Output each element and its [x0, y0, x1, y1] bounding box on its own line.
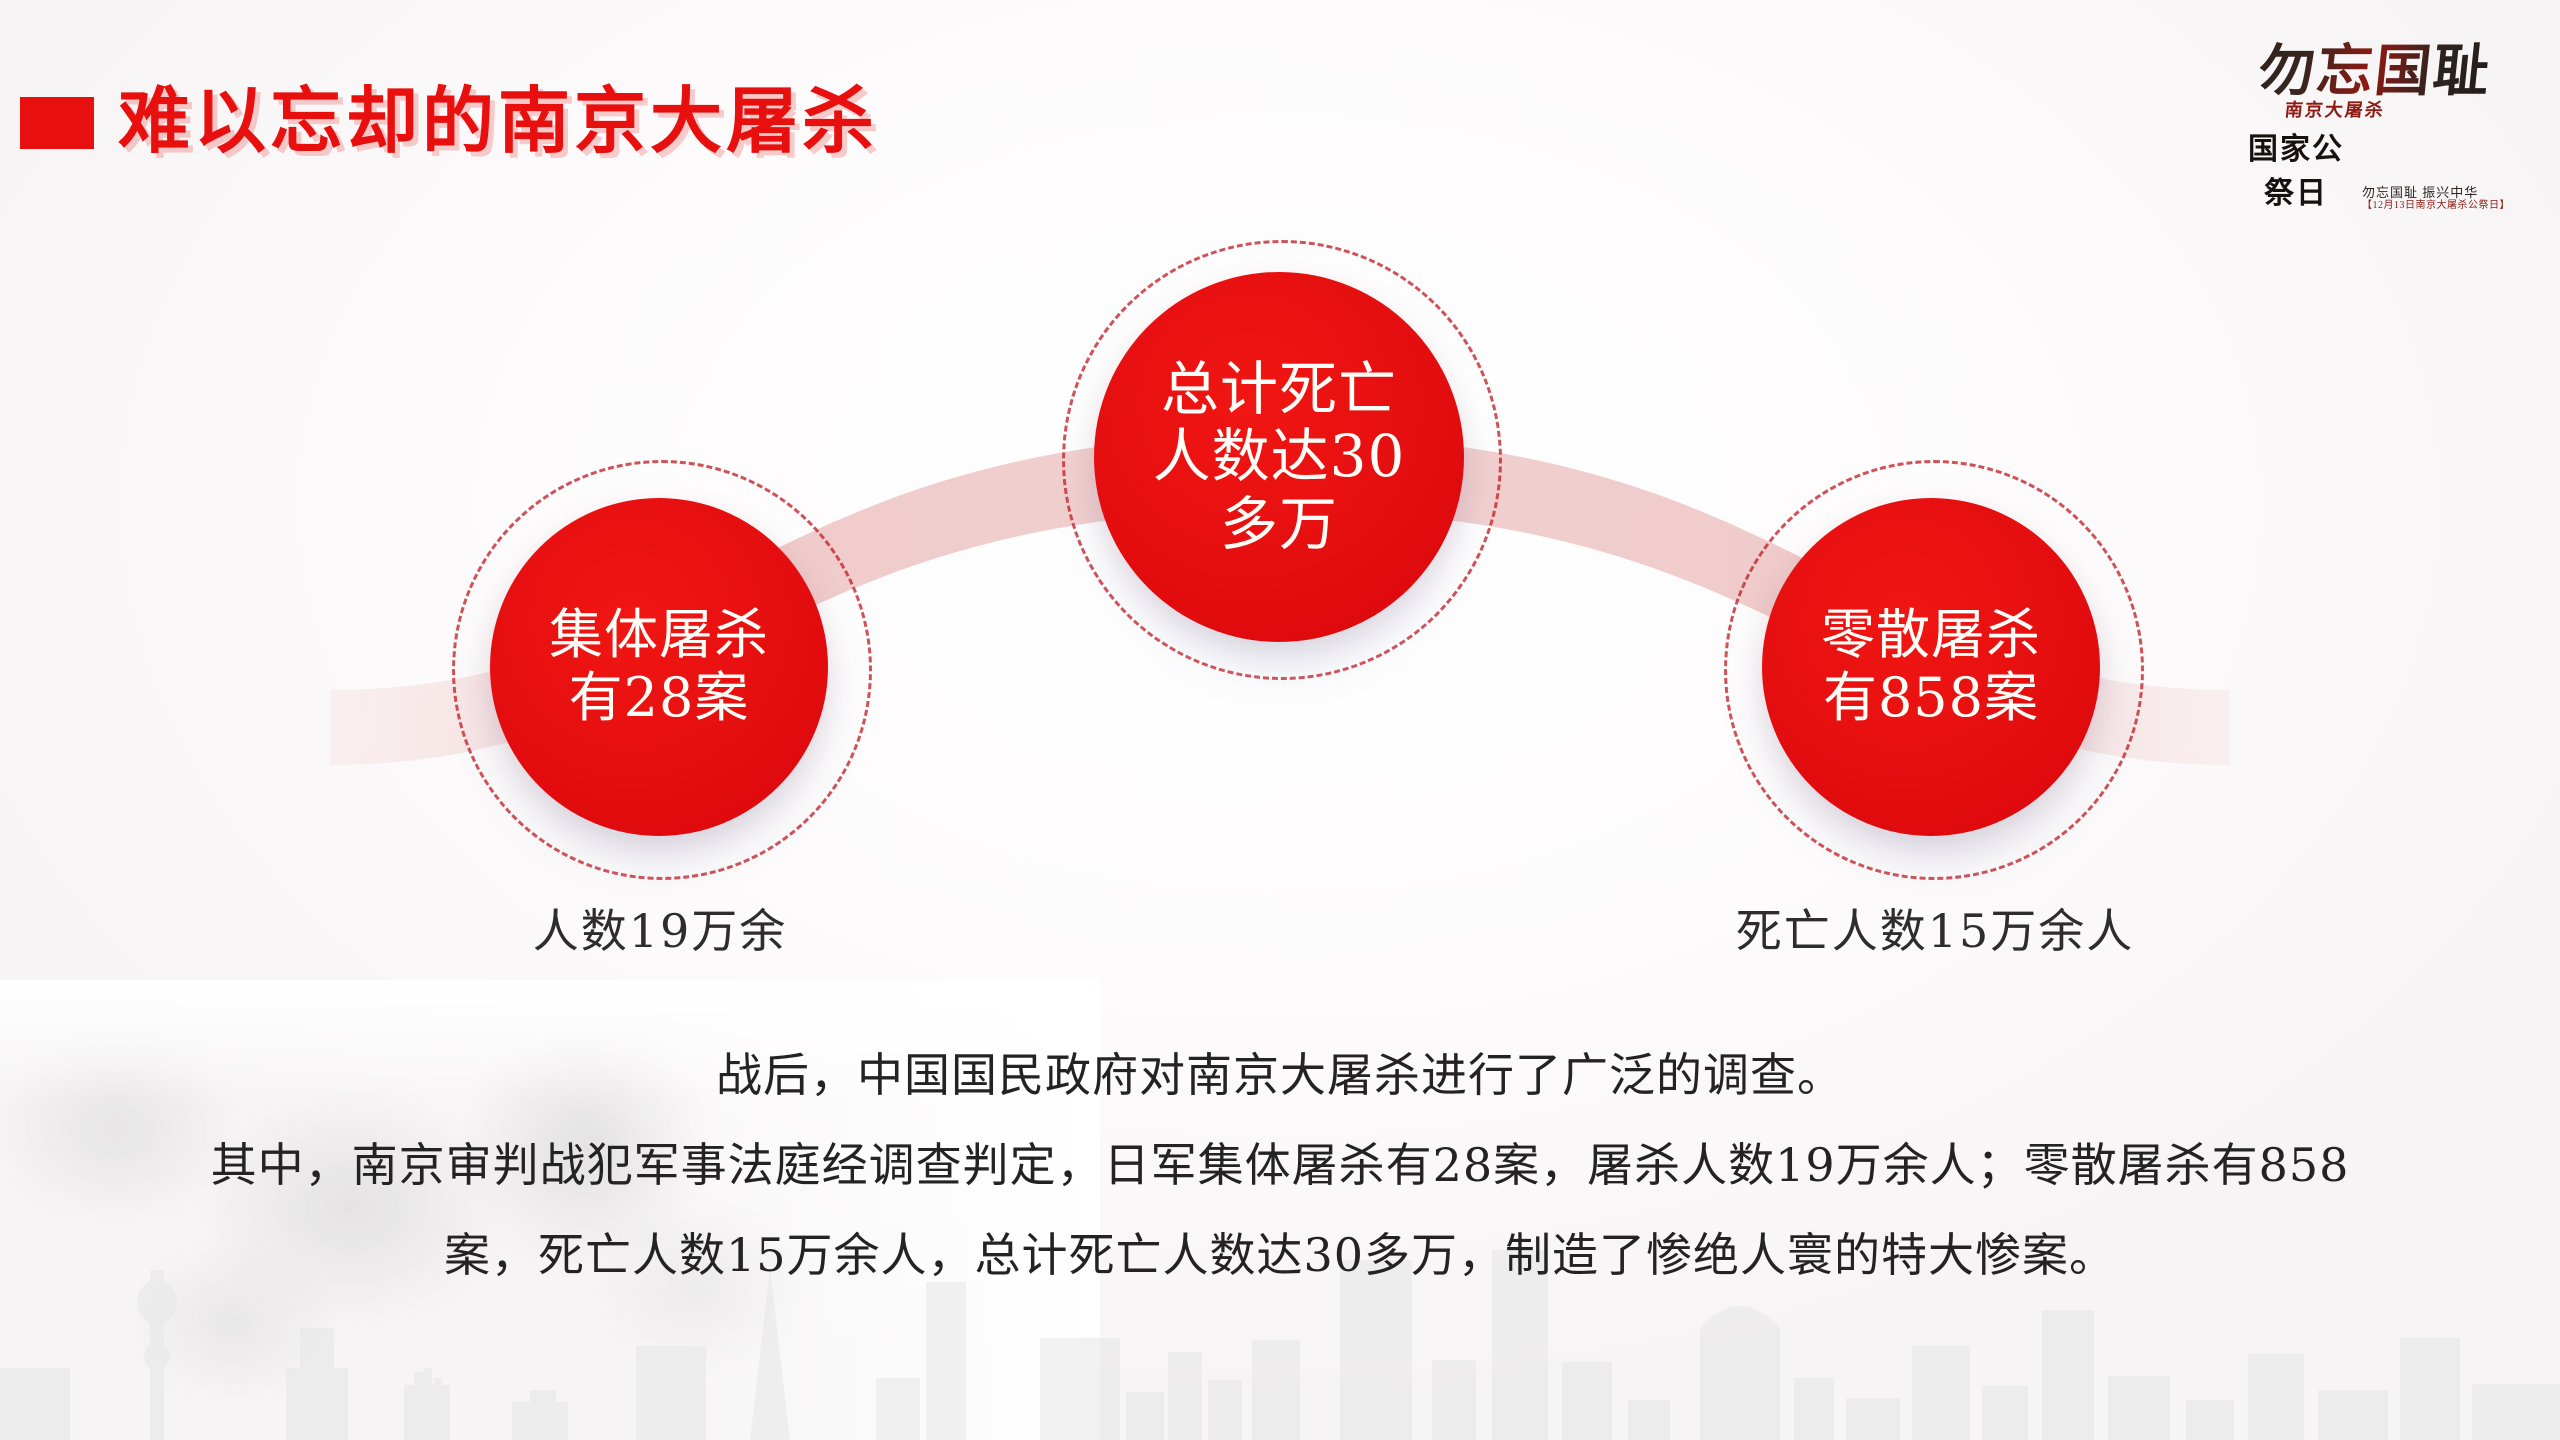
logo-tiny-line2: 【12月13日南京大屠杀公祭日】 — [2362, 199, 2510, 212]
memorial-logo: 勿忘国耻 南京大屠杀 国家公祭日 勿忘国耻 振兴中华 【12月13日南京大屠杀公… — [2240, 40, 2510, 180]
circle-left[interactable]: 集体屠杀 有28案 — [490, 498, 828, 836]
circle-left-label: 集体屠杀 有28案 — [549, 604, 769, 729]
logo-bottom-row: 国家公祭日 勿忘国耻 振兴中华 【12月13日南京大屠杀公祭日】 — [2240, 124, 2510, 212]
circle-right[interactable]: 零散屠杀 有858案 — [1762, 498, 2100, 836]
logo-sub-caption: 南京大屠杀 — [2199, 96, 2472, 122]
body-line-1: 战后，中国国民政府对南京大屠杀进行了广泛的调查。 — [180, 1030, 2380, 1120]
logo-memorial-day: 国家公祭日 — [2240, 124, 2352, 212]
caption-right: 死亡人数15万余人 — [1665, 895, 2205, 961]
circle-right-label: 零散屠杀 有858案 — [1821, 604, 2041, 729]
body-line-3: 案，死亡人数15万余人，总计死亡人数达30多万，制造了惨绝人寰的特大惨案。 — [180, 1210, 2380, 1300]
diagram-node-left[interactable]: 集体屠杀 有28案 — [452, 460, 872, 880]
slide-canvas: 难以忘却的南京大屠杀 勿忘国耻 南京大屠杀 国家公祭日 勿忘国耻 振兴中华 【1… — [0, 0, 2560, 1440]
title-bullet-icon — [20, 97, 94, 149]
logo-tiny-block: 勿忘国耻 振兴中华 【12月13日南京大屠杀公祭日】 — [2362, 186, 2510, 212]
circle-center-label: 总计死亡 人数达30 多万 — [1153, 356, 1406, 558]
logo-main-text: 勿忘国耻 — [2237, 40, 2514, 102]
slide-header: 难以忘却的南京大屠杀 — [0, 0, 2560, 210]
caption-left: 人数19万余 — [420, 895, 900, 961]
circle-center[interactable]: 总计死亡 人数达30 多万 — [1094, 272, 1464, 642]
body-paragraph: 战后，中国国民政府对南京大屠杀进行了广泛的调查。 其中，南京审判战犯军事法庭经调… — [180, 1030, 2380, 1300]
logo-tiny-line1: 勿忘国耻 振兴中华 — [2362, 186, 2510, 199]
page-title: 难以忘却的南京大屠杀 — [118, 62, 878, 167]
diagram-node-center[interactable]: 总计死亡 人数达30 多万 — [1062, 240, 1502, 680]
body-line-2: 其中，南京审判战犯军事法庭经调查判定，日军集体屠杀有28案，屠杀人数19万余人；… — [180, 1120, 2380, 1210]
diagram-node-right[interactable]: 零散屠杀 有858案 — [1724, 460, 2144, 880]
